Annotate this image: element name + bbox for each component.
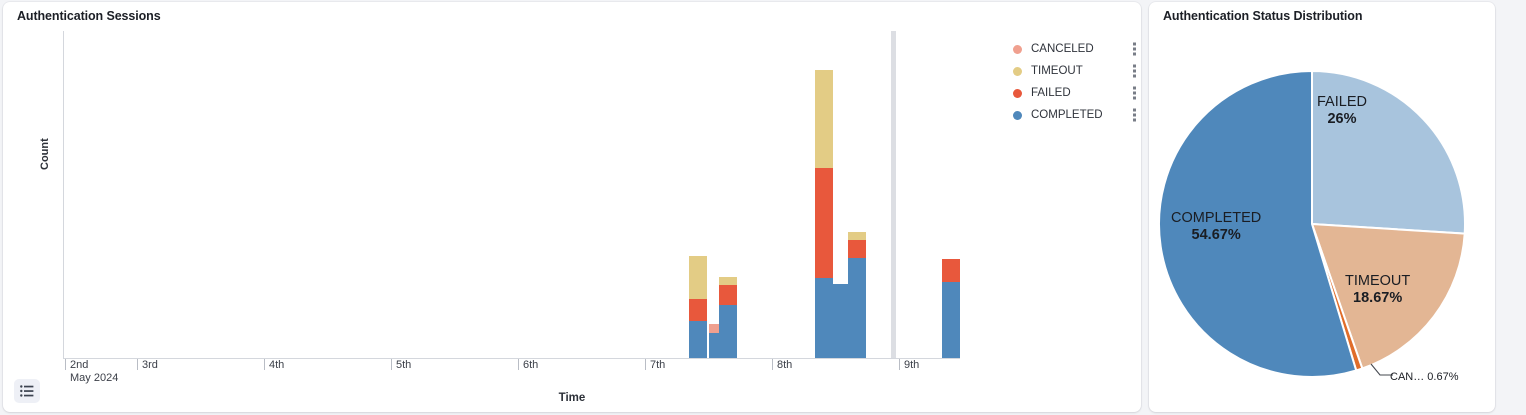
- time-cursor-line[interactable]: [891, 31, 896, 358]
- pie-svg: [1149, 2, 1495, 412]
- legend-item-label: CANCELED: [1031, 43, 1094, 55]
- bar-segment-failed[interactable]: [815, 168, 833, 278]
- x-axis-tick-label: 3rd: [142, 359, 158, 371]
- bar-segment-completed[interactable]: [719, 305, 737, 358]
- x-axis-tick-4: 6th: [518, 359, 538, 370]
- pie-label-completed: COMPLETED54.67%: [1171, 210, 1261, 243]
- bar-segment-failed[interactable]: [689, 299, 707, 321]
- pie-chart[interactable]: FAILED26%COMPLETED54.67%TIMEOUT18.67%CAN…: [1149, 2, 1495, 412]
- more-vertical-icon[interactable]: [1133, 65, 1136, 78]
- pie-label-value: 26%: [1317, 111, 1367, 128]
- dashboard: Authentication Sessions Count Time 2ndMa…: [0, 0, 1526, 415]
- bar-segment-timeout[interactable]: [848, 232, 866, 240]
- more-vertical-icon[interactable]: [1133, 109, 1136, 122]
- bar-segment-completed[interactable]: [815, 278, 833, 358]
- chart-legend: CANCELEDTIMEOUTFAILEDCOMPLETED: [1013, 38, 1138, 126]
- x-axis-tick-3: 5th: [391, 359, 411, 370]
- pie-label-value: 18.67%: [1345, 290, 1410, 307]
- x-axis-tick-label: 6th: [523, 359, 538, 371]
- pie-label-name: COMPLETED: [1171, 210, 1261, 227]
- bar-segment-failed[interactable]: [719, 285, 737, 305]
- legend-item-completed[interactable]: COMPLETED: [1013, 104, 1138, 126]
- legend-item-label: COMPLETED: [1031, 109, 1103, 121]
- x-axis-tick-label: 2nd: [70, 359, 88, 371]
- x-axis-tick-label: 7th: [650, 359, 665, 371]
- x-axis-line: [63, 358, 960, 359]
- bar-segment-completed[interactable]: [689, 321, 707, 358]
- authentication-status-distribution-panel: Authentication Status Distribution FAILE…: [1149, 2, 1495, 412]
- bar-column[interactable]: [719, 277, 737, 358]
- bar-segment-failed[interactable]: [848, 240, 866, 258]
- more-vertical-icon[interactable]: [1133, 87, 1136, 100]
- list-view-toggle-button[interactable]: [14, 379, 40, 403]
- pie-label-name: FAILED: [1317, 94, 1367, 111]
- bar-segment-timeout[interactable]: [815, 70, 833, 168]
- legend-color-dot: [1013, 111, 1022, 120]
- x-axis-tick-7: 9th: [899, 359, 919, 370]
- legend-color-dot: [1013, 67, 1022, 76]
- bar-column[interactable]: [689, 256, 707, 358]
- x-axis-tick-label: 9th: [904, 359, 919, 371]
- pie-label-value: 54.67%: [1171, 227, 1261, 244]
- x-axis-tick-6: 8th: [772, 359, 792, 370]
- legend-item-failed[interactable]: FAILED: [1013, 82, 1138, 104]
- list-icon: [20, 385, 34, 397]
- x-axis-tick-label: 8th: [777, 359, 792, 371]
- legend-item-canceled[interactable]: CANCELED: [1013, 38, 1138, 60]
- bar-chart-plot-area[interactable]: [63, 31, 960, 358]
- bar-column[interactable]: [942, 259, 960, 358]
- more-vertical-icon[interactable]: [1133, 43, 1136, 56]
- legend-item-timeout[interactable]: TIMEOUT: [1013, 60, 1138, 82]
- bar-column[interactable]: [848, 232, 866, 358]
- x-axis-tick-2: 4th: [264, 359, 284, 370]
- authentication-sessions-panel: Authentication Sessions Count Time 2ndMa…: [3, 2, 1141, 412]
- x-axis-title: Time: [3, 392, 1141, 404]
- legend-color-dot: [1013, 45, 1022, 54]
- y-axis-title: Count: [39, 138, 51, 170]
- x-axis-tick-label: 5th: [396, 359, 411, 371]
- pie-label-name: TIMEOUT: [1345, 273, 1410, 290]
- legend-color-dot: [1013, 89, 1022, 98]
- bar-segment-timeout[interactable]: [719, 277, 737, 285]
- x-axis-tick-1: 3rd: [137, 359, 158, 370]
- legend-item-label: TIMEOUT: [1031, 65, 1083, 77]
- bar-segment-failed[interactable]: [942, 259, 960, 282]
- legend-item-label: FAILED: [1031, 87, 1071, 99]
- bar-column[interactable]: [815, 70, 833, 358]
- bar-segment-timeout[interactable]: [689, 256, 707, 299]
- x-axis-tick-0: 2ndMay 2024: [65, 359, 118, 370]
- pie-callout-canceled: CAN… 0.67%: [1390, 371, 1458, 383]
- bar-segment-completed[interactable]: [942, 282, 960, 358]
- pie-label-failed: FAILED26%: [1317, 94, 1367, 127]
- x-axis-tick-5: 7th: [645, 359, 665, 370]
- bar-segment-completed[interactable]: [848, 258, 866, 358]
- x-axis-tick-label: 4th: [269, 359, 284, 371]
- x-axis-tick-sublabel: May 2024: [70, 372, 118, 384]
- page-title: Authentication Sessions: [17, 9, 161, 23]
- pie-label-timeout: TIMEOUT18.67%: [1345, 273, 1410, 306]
